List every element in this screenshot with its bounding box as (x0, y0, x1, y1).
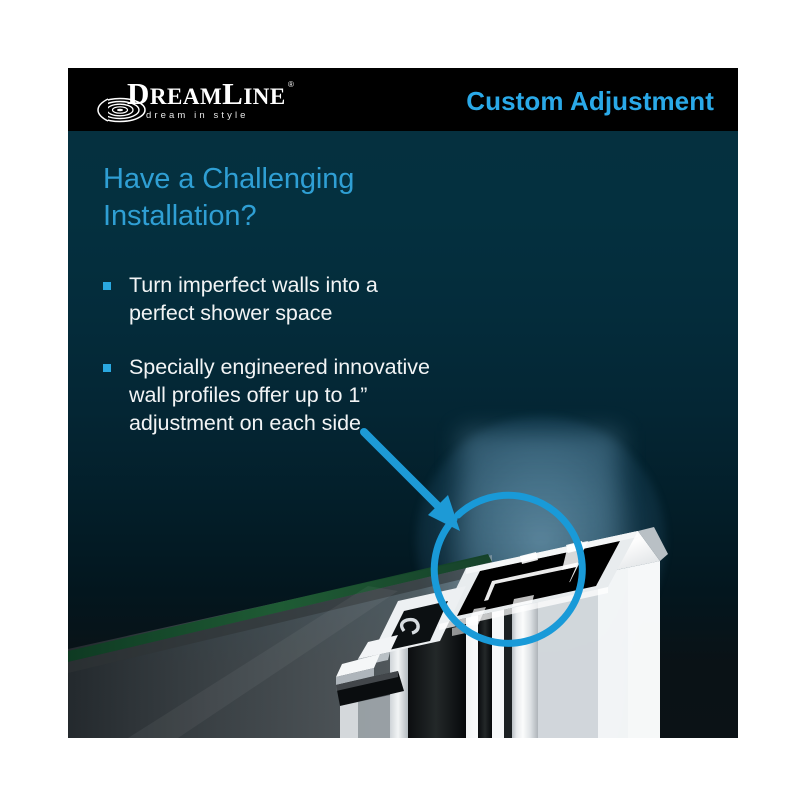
list-item-label: Turn imperfect walls into a perfect show… (129, 273, 378, 325)
brand-ine: INE (243, 84, 285, 109)
brand-tagline: dream in style (146, 110, 249, 121)
headline-line-2: Installation? (103, 200, 256, 232)
page-title: Have a ChallengingInstallation? (103, 161, 433, 235)
headline-line-1: Have a Challenging (103, 163, 354, 195)
bullet-square-icon (103, 364, 111, 372)
copy-block: Have a ChallengingInstallation? Turn imp… (103, 161, 433, 463)
header-bar: DREAMLINE ® dream in style Custom Adjust… (68, 68, 738, 131)
brand-wordmark: DREAMLINE (127, 77, 286, 114)
bullet-list: Turn imperfect walls into a perfect show… (103, 271, 433, 437)
brand-l: L (222, 76, 243, 111)
brand-d: D (127, 76, 150, 111)
body-area: Have a ChallengingInstallation? Turn imp… (68, 131, 738, 738)
registered-trademark-mark: ® (288, 80, 294, 89)
list-item: Turn imperfect walls into a perfect show… (103, 271, 433, 327)
header-title: Custom Adjustment (466, 86, 714, 117)
bullet-square-icon (103, 282, 111, 290)
list-item-label: Specially engineered innovative wall pro… (129, 355, 430, 435)
list-item: Specially engineered innovative wall pro… (103, 353, 433, 437)
brand-ream: REAM (150, 84, 222, 109)
brand-logo: DREAMLINE ® dream in style (94, 75, 304, 127)
promo-card: DREAMLINE ® dream in style Custom Adjust… (68, 68, 738, 738)
